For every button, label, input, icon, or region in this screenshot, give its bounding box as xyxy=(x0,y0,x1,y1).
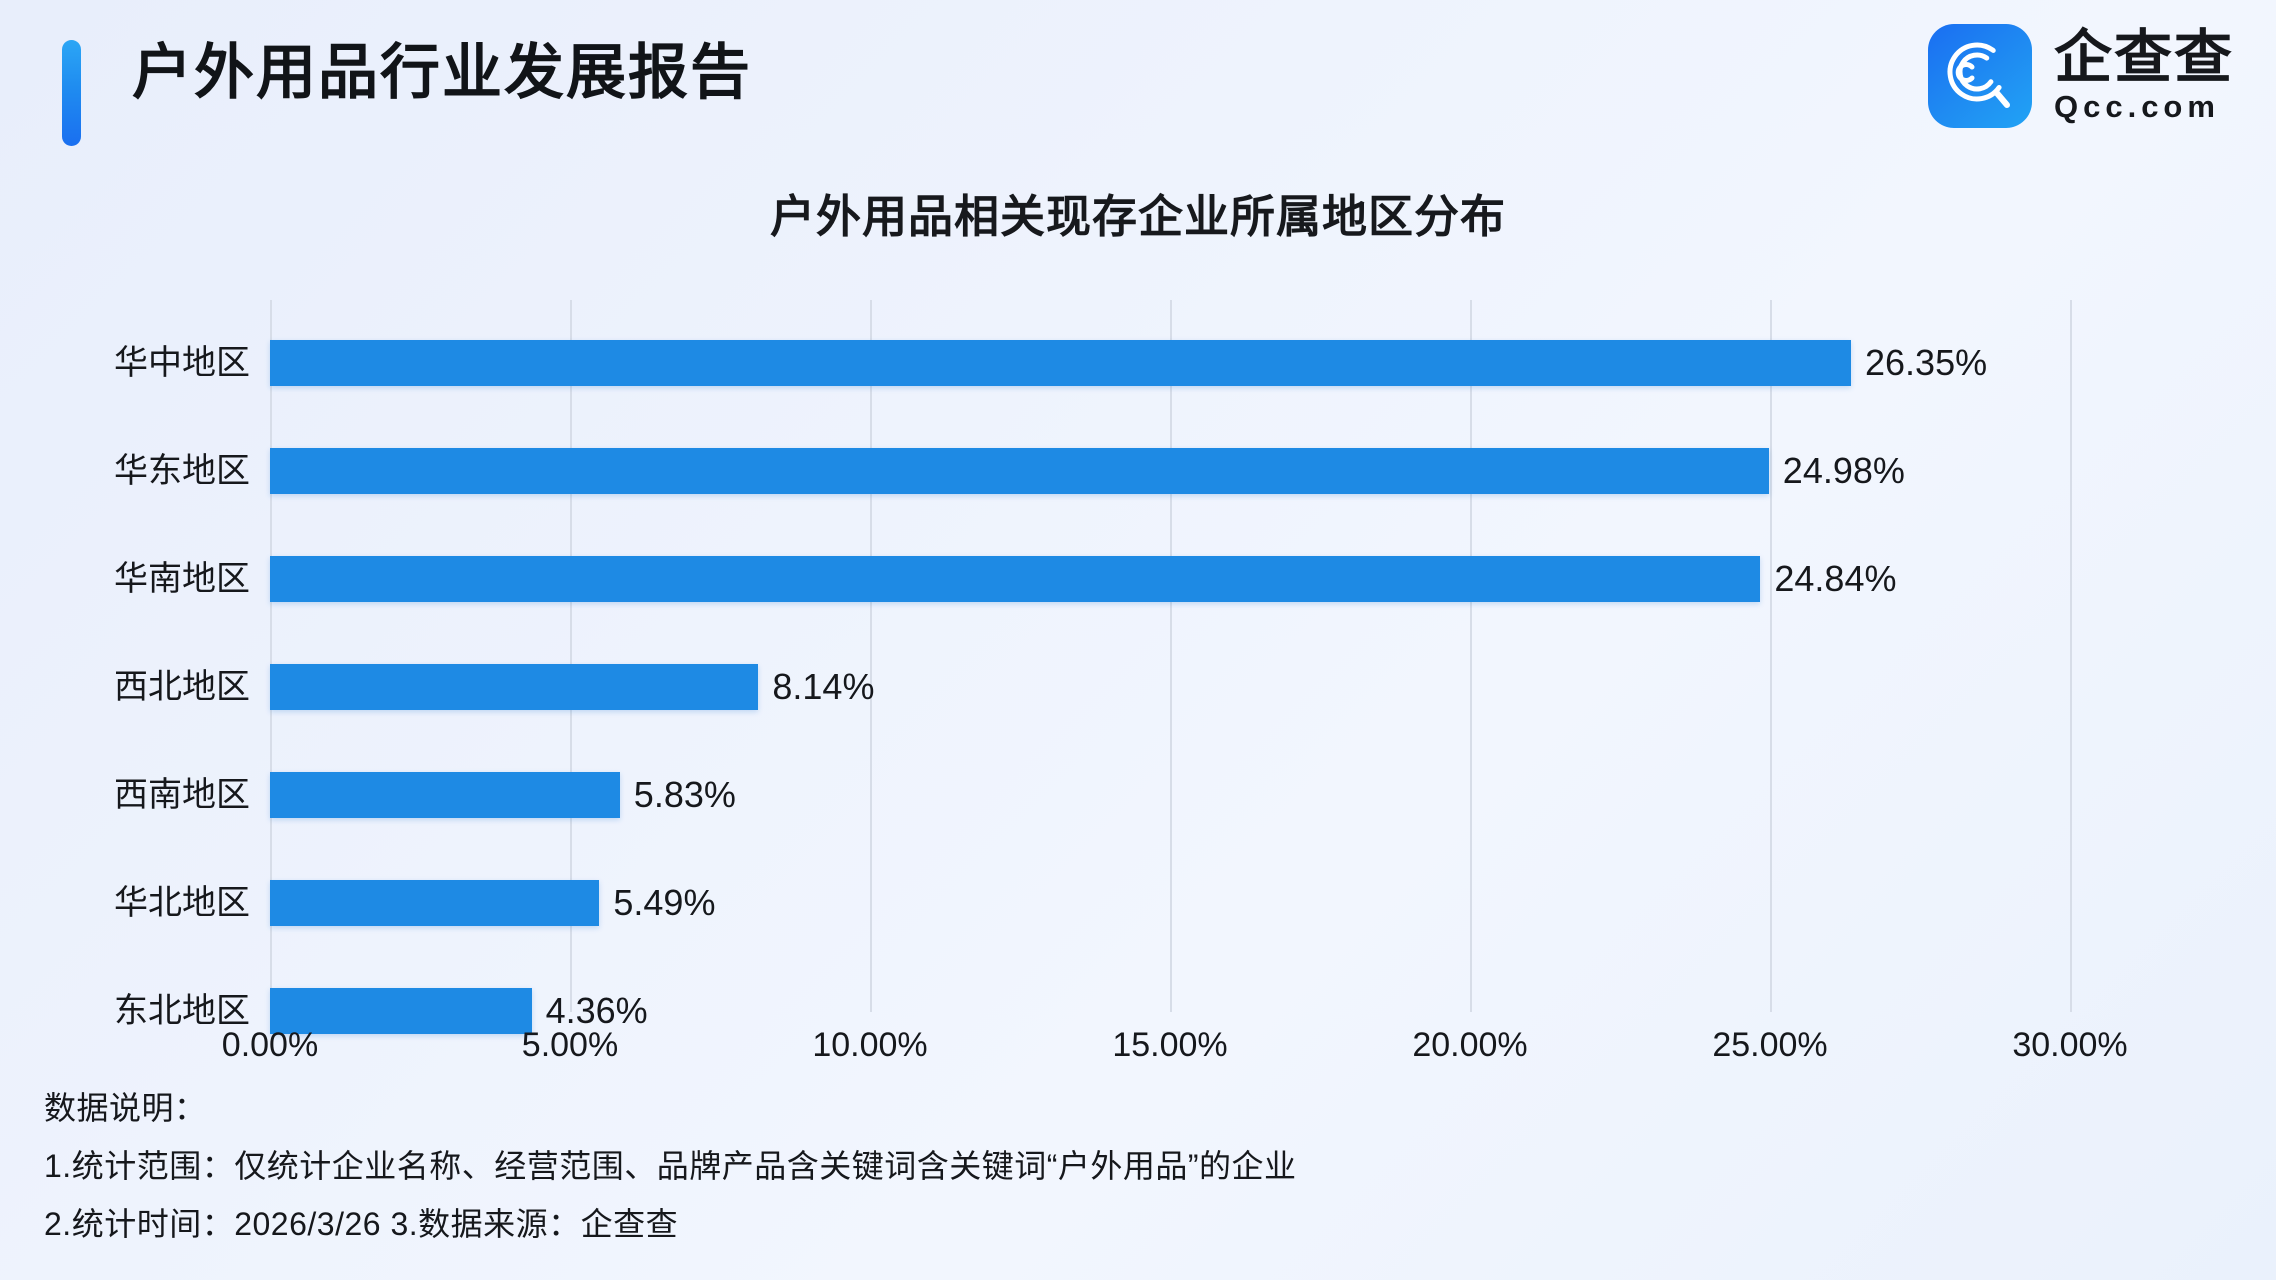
x-axis-tick-label: 30.00% xyxy=(2012,1026,2127,1065)
x-axis-tick-label: 25.00% xyxy=(1712,1026,1827,1065)
page-title: 户外用品行业发展报告 xyxy=(132,38,752,107)
bar-chart: 华中地区26.35%华东地区24.98%华南地区24.84%西北地区8.14%西… xyxy=(0,300,2276,1060)
title-accent-bar xyxy=(62,40,81,146)
chart-x-axis: 0.00%5.00%10.00%15.00%20.00%25.00%30.00% xyxy=(0,300,2276,1060)
x-axis-tick-label: 20.00% xyxy=(1412,1026,1527,1065)
x-axis-tick-label: 15.00% xyxy=(1112,1026,1227,1065)
brand-text: 企查查 Qcc.com xyxy=(2054,28,2234,123)
notes-heading: 数据说明： xyxy=(44,1092,1944,1124)
page-header: 户外用品行业发展报告 企查查 Qcc.com xyxy=(0,0,2276,180)
x-axis-tick-label: 10.00% xyxy=(812,1026,927,1065)
brand-name-cn: 企查查 xyxy=(2054,28,2234,89)
x-axis-tick-label: 5.00% xyxy=(522,1026,618,1065)
brand-name-en: Qcc.com xyxy=(2054,91,2234,124)
chart-title: 户外用品相关现存企业所属地区分布 xyxy=(0,180,2276,245)
brand-logo: 企查查 Qcc.com xyxy=(1928,24,2234,128)
chart-notes: 数据说明： 1.统计范围：仅统计企业名称、经营范围、品牌产品含关键词含关键词“户… xyxy=(44,1092,1944,1240)
qcc-magnifier-logo-icon xyxy=(1928,24,2032,128)
x-axis-tick-label: 0.00% xyxy=(222,1026,318,1065)
notes-line-1: 1.统计范围：仅统计企业名称、经营范围、品牌产品含关键词含关键词“户外用品”的企… xyxy=(44,1150,1944,1182)
notes-line-2: 2.统计时间：2026/3/26 3.数据来源：企查查 xyxy=(44,1208,1944,1240)
